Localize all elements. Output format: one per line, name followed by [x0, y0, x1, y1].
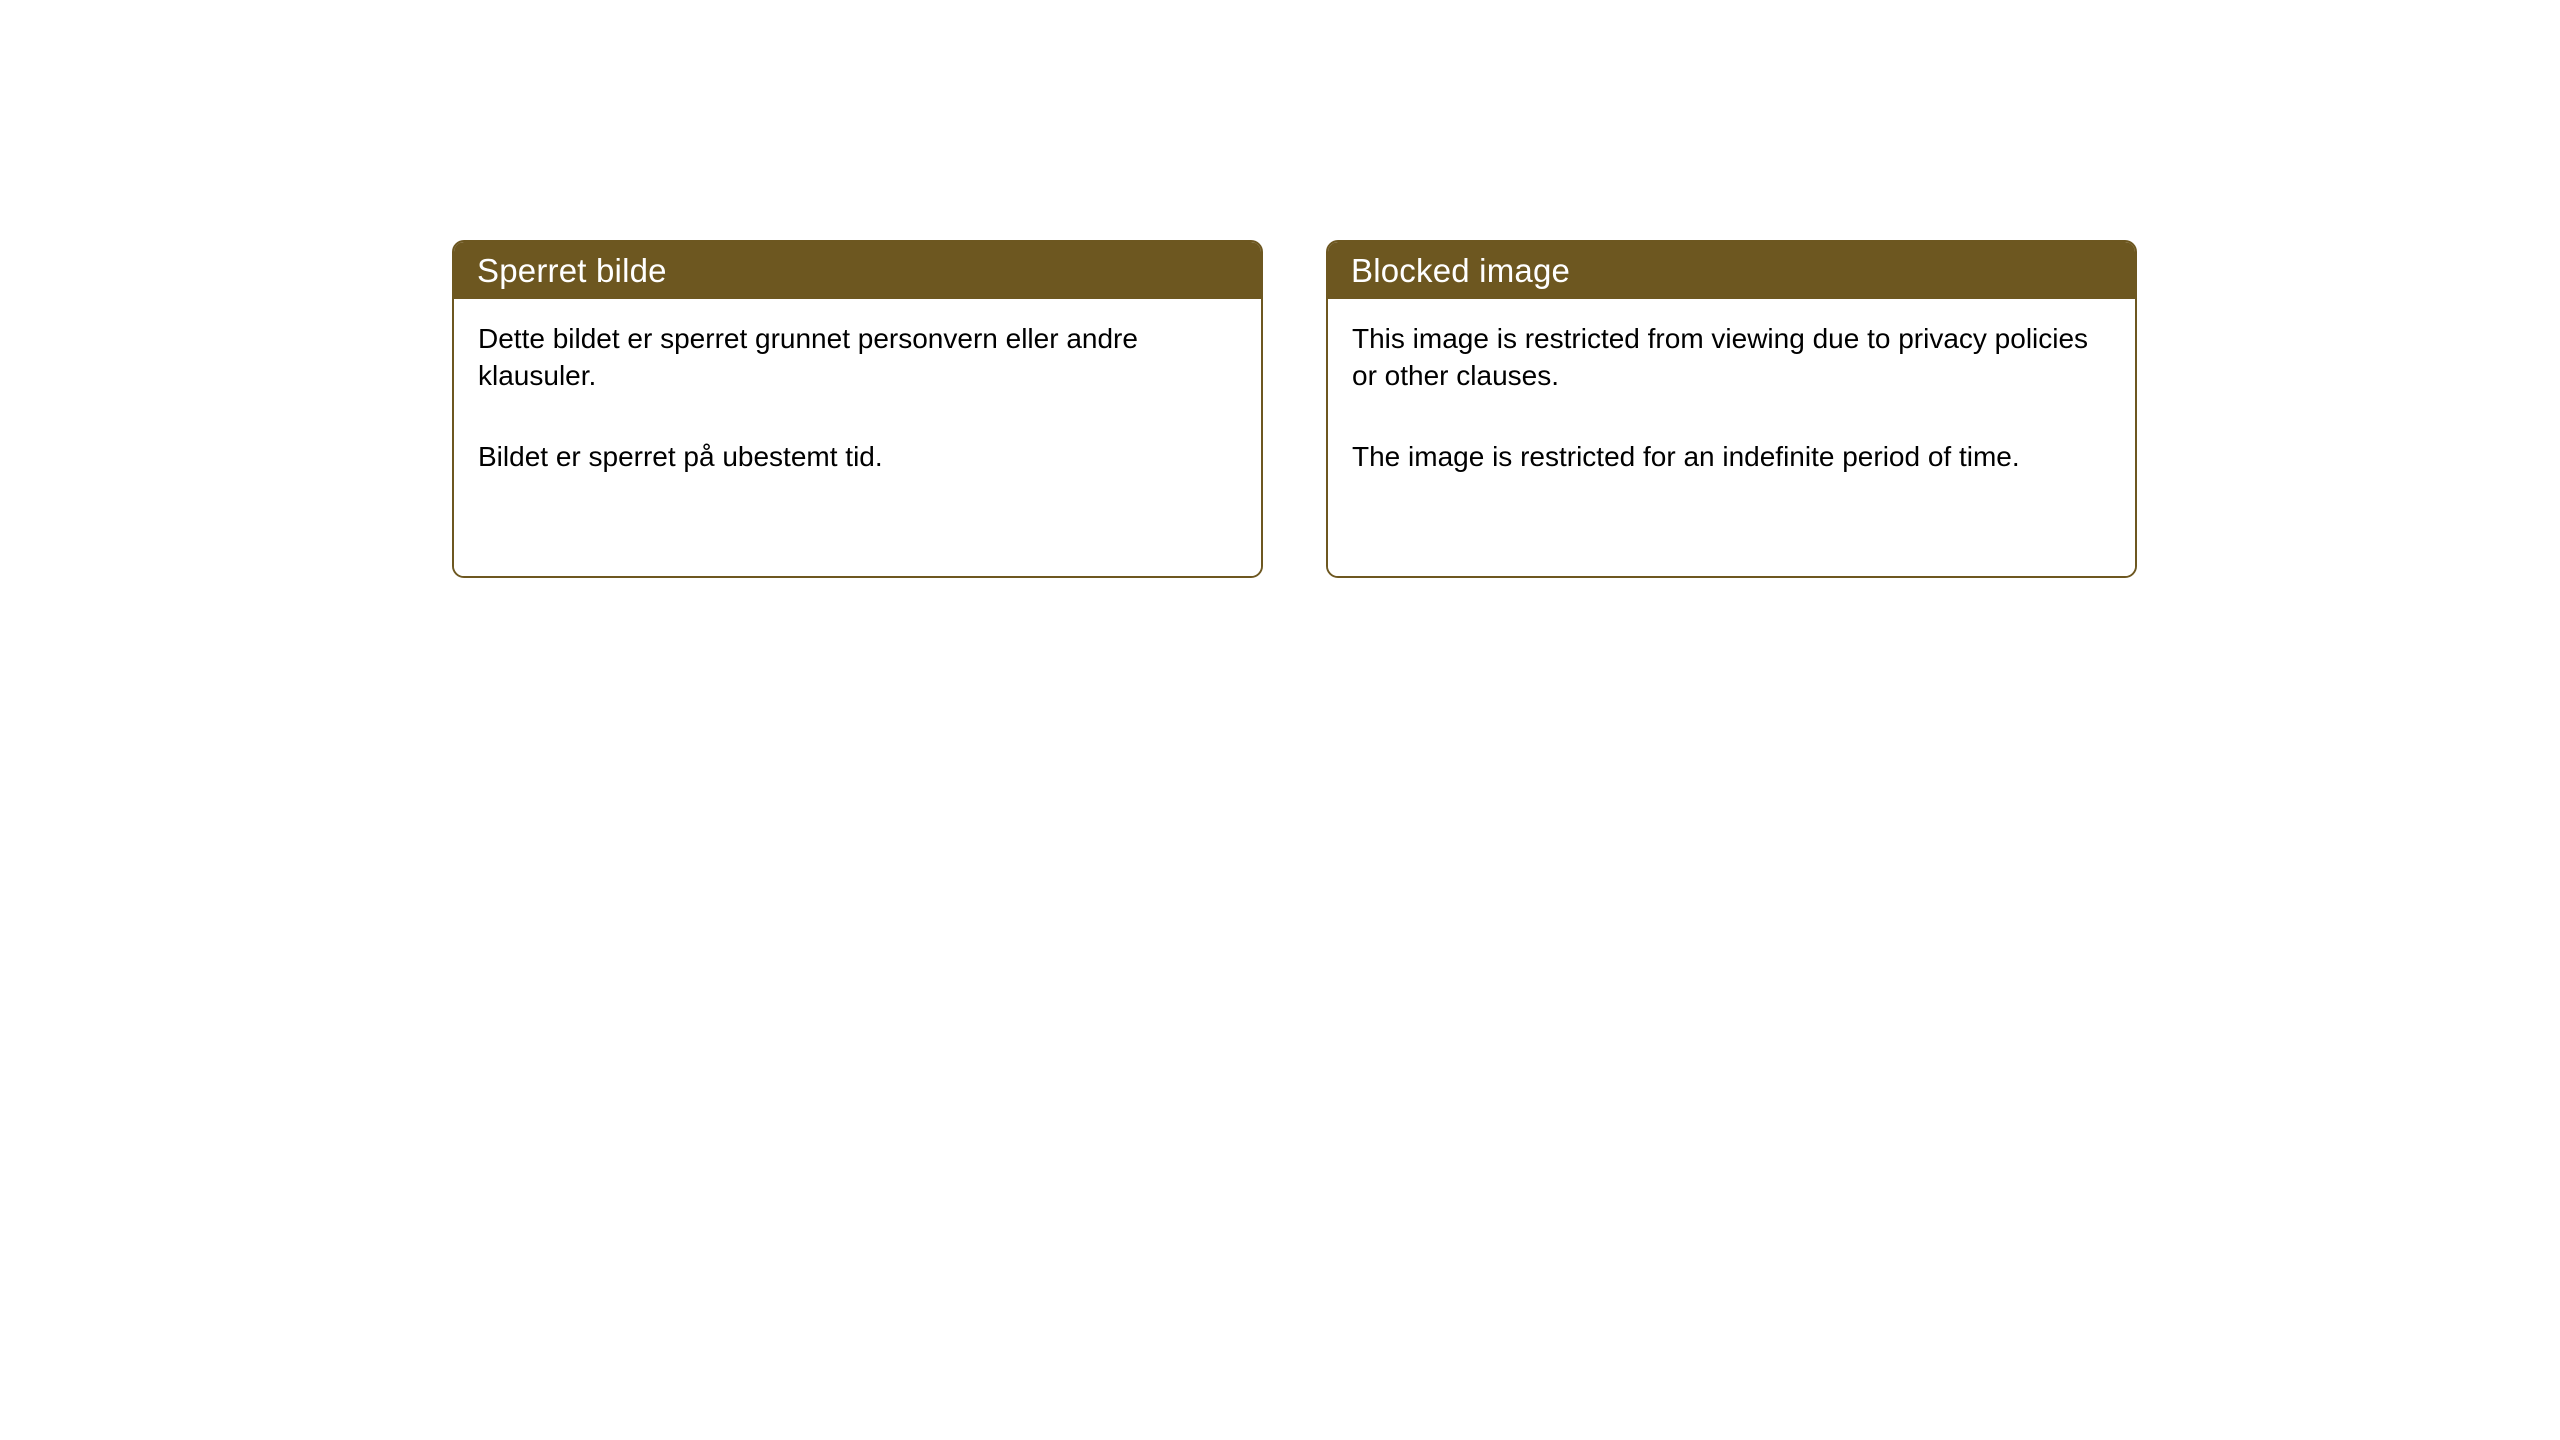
card-paragraph-english-2: The image is restricted for an indefinit…	[1352, 439, 2092, 476]
page-canvas: Sperret bilde Dette bildet er sperret gr…	[0, 0, 2560, 1440]
card-body-english: This image is restricted from viewing du…	[1328, 299, 2135, 576]
card-title-english: Blocked image	[1351, 254, 1570, 287]
card-title-norwegian: Sperret bilde	[477, 254, 667, 287]
card-paragraph-norwegian-2: Bildet er sperret på ubestemt tid.	[478, 439, 1218, 476]
blocked-image-notice-group: Sperret bilde Dette bildet er sperret gr…	[452, 240, 2137, 578]
blocked-image-card-norwegian: Sperret bilde Dette bildet er sperret gr…	[452, 240, 1263, 578]
card-paragraph-norwegian-1: Dette bildet er sperret grunnet personve…	[478, 321, 1218, 395]
card-paragraph-english-1: This image is restricted from viewing du…	[1352, 321, 2092, 395]
card-header-english: Blocked image	[1327, 241, 2136, 299]
blocked-image-card-english: Blocked image This image is restricted f…	[1326, 240, 2137, 578]
card-body-norwegian: Dette bildet er sperret grunnet personve…	[454, 299, 1261, 576]
card-header-norwegian: Sperret bilde	[453, 241, 1262, 299]
